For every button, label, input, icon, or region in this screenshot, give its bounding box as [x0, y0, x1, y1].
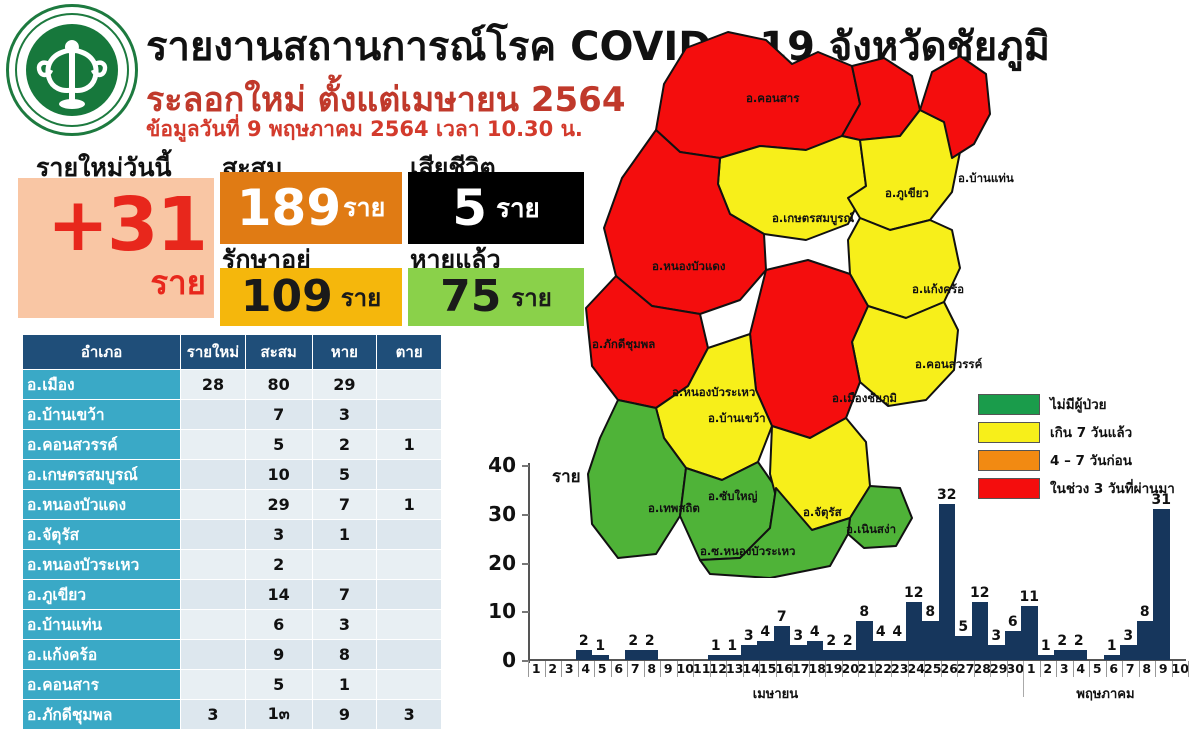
map-label-yellow: อ.แก้งคร้อ: [912, 281, 964, 299]
table-cell-new: [181, 550, 246, 580]
chart-x-tick-label: 14: [743, 661, 760, 676]
legend-item: เกิน 7 วันแล้ว: [978, 421, 1198, 443]
chart-x-tick-label: 4: [578, 661, 595, 676]
chart-x-tick-mark: [776, 661, 777, 677]
table-cell-cum: 6: [245, 610, 312, 640]
table-cell-dead: [377, 580, 442, 610]
chart-x-tick-label: 24: [908, 661, 925, 676]
table-cell-district: อ.เกษตรสมบูรณ์: [23, 460, 181, 490]
table-cell-recovered: 3: [312, 400, 377, 430]
chart-x-tick-mark: [974, 661, 975, 677]
kpi-value-recovered: 75: [440, 275, 501, 319]
chart-x-tick-label: 26: [941, 661, 958, 676]
chart-bar-group: 32: [939, 465, 956, 660]
chart-x-tick-mark: [990, 661, 991, 677]
map-label-red: อ.ภักดีชุมพล: [592, 336, 655, 354]
table-row: อ.ภักดีชุมพล31๓93: [23, 700, 442, 730]
daily-new-cases-bar-chart: ราย 212211347342284412832512361112213831…: [448, 455, 1200, 706]
table-row: อ.จัตุรัส31: [23, 520, 442, 550]
chart-bar-group: [675, 465, 692, 660]
chart-bar-value-label: 4: [892, 624, 902, 640]
chart-x-tick-mark: [842, 661, 843, 677]
table-cell-recovered: 1: [312, 670, 377, 700]
chart-x-tick-label: 19: [825, 661, 842, 676]
chart-x-tick-mark: [644, 661, 645, 677]
table-cell-dead: 1: [377, 490, 442, 520]
chart-x-tick-mark: [1188, 661, 1189, 677]
kpi-unit-new-today: ราย: [150, 256, 206, 309]
chart-bar-value-label: 2: [843, 633, 853, 649]
chart-bar: [724, 655, 741, 660]
table-row: อ.เมือง288029: [23, 370, 442, 400]
chart-bar: [922, 621, 939, 660]
chart-x-tick-label: 9: [1155, 661, 1172, 676]
table-cell-new: [181, 460, 246, 490]
chart-y-tick-mark: [522, 514, 529, 516]
chart-x-tick-label: 13: [726, 661, 743, 676]
table-cell-district: อ.หนองบัวระเหว: [23, 550, 181, 580]
table-cell-dead: [377, 370, 442, 400]
chart-bar: [774, 626, 791, 660]
chart-x-tick-mark: [1106, 661, 1107, 677]
table-cell-new: [181, 640, 246, 670]
kpi-card-treating: 109 ราย: [220, 268, 402, 326]
chart-bar-group: [1087, 465, 1104, 660]
chart-bar-value-label: 31: [1152, 492, 1171, 508]
chart-x-tick-label: 17: [792, 661, 809, 676]
chart-x-tick-label: 3: [561, 661, 578, 676]
map-label-yellow: อ.เกษตรสมบูรณ์: [772, 210, 854, 228]
map-label-red: อ.เมืองชัยภูมิ: [832, 390, 897, 408]
chart-x-tick-label: 25: [924, 661, 941, 676]
chart-x-tick-mark: [957, 661, 958, 677]
table-cell-cum: 3: [245, 520, 312, 550]
chart-bar: [939, 504, 956, 660]
chart-bar-group: 7: [774, 465, 791, 660]
chart-bar-group: 2: [1054, 465, 1071, 660]
chart-bar-group: 1: [592, 465, 609, 660]
chart-x-tick-mark: [908, 661, 909, 677]
chart-bar-value-label: 12: [904, 585, 923, 601]
chart-bar-value-label: 5: [958, 619, 968, 635]
chart-bar-value-label: 3: [744, 628, 754, 644]
chart-x-tick-mark: [578, 661, 579, 677]
chart-x-tick-mark: [792, 661, 793, 677]
chart-y-tick-mark: [522, 465, 529, 467]
chart-bar-group: 2: [1071, 465, 1088, 660]
table-header-recovered: หาย: [312, 335, 377, 370]
chart-y-tick-label: 10: [476, 601, 516, 621]
chart-bar-value-label: 3: [793, 628, 803, 644]
chart-x-tick-label: 21: [858, 661, 875, 676]
chart-bar: [906, 602, 923, 661]
chart-plot-area: 212211347342284412832512361112213831: [526, 465, 1186, 660]
table-cell-district: อ.แก้งคร้อ: [23, 640, 181, 670]
table-cell-new: [181, 610, 246, 640]
table-cell-district: อ.หนองบัวแดง: [23, 490, 181, 520]
table-header-cum: สะสม: [245, 335, 312, 370]
chart-x-tick-mark: [1089, 661, 1090, 677]
chart-x-tick-label: 7: [1122, 661, 1139, 676]
map-label-yellow: อ.บ้านเขว้า: [708, 410, 766, 428]
chart-bar-value-label: 8: [859, 604, 869, 620]
chart-x-tick-label: 2: [1040, 661, 1057, 676]
kpi-value-treating: 109: [241, 275, 333, 319]
chart-x-tick-label: 10: [1172, 661, 1189, 676]
chart-x-tick-mark: [1155, 661, 1156, 677]
chart-bar: [576, 650, 593, 660]
chart-bar: [955, 636, 972, 660]
table-cell-dead: [377, 550, 442, 580]
kpi-unit-recovered: ราย: [511, 278, 551, 317]
chart-bar-group: 4: [807, 465, 824, 660]
table-cell-district: อ.จัตุรัส: [23, 520, 181, 550]
table-cell-district: อ.ภักดีชุมพล: [23, 700, 181, 730]
chart-bar: [790, 645, 807, 660]
table-cell-new: [181, 400, 246, 430]
chart-x-tick-label: 8: [1139, 661, 1156, 676]
chart-bar-value-label: 11: [1020, 589, 1039, 605]
chart-x-tick-mark: [545, 661, 546, 677]
chart-bar-value-label: 1: [595, 638, 605, 654]
chart-bar: [708, 655, 725, 660]
table-cell-district: อ.คอนสวรรค์: [23, 430, 181, 460]
chart-x-tick-mark: [858, 661, 859, 677]
table-cell-dead: [377, 610, 442, 640]
chart-bar: [807, 641, 824, 661]
table-row: อ.ภูเขียว147: [23, 580, 442, 610]
chart-x-tick-mark: [693, 661, 694, 677]
chart-bar-value-label: 2: [579, 633, 589, 649]
table-cell-new: 3: [181, 700, 246, 730]
table-cell-recovered: 8: [312, 640, 377, 670]
chart-bar-group: 2: [823, 465, 840, 660]
chart-x-tick-label: 16: [776, 661, 793, 676]
chart-x-tick-label: 5: [594, 661, 611, 676]
chart-bar-group: [658, 465, 675, 660]
chart-x-tick-mark: [561, 661, 562, 677]
chart-bar-group: 3: [1120, 465, 1137, 660]
chart-x-tick-mark: [1172, 661, 1173, 677]
kpi-card-new-today: +31 ราย: [18, 178, 214, 318]
table-cell-dead: [377, 640, 442, 670]
chart-bar-group: 1: [1038, 465, 1055, 660]
kpi-unit-deaths: ราย: [496, 188, 540, 229]
chart-bar: [741, 645, 758, 660]
district-case-table: อำเภอรายใหม่สะสมหายตาย อ.เมือง288029อ.บ้…: [22, 334, 442, 730]
chart-bar-group: 3: [988, 465, 1005, 660]
chart-bar-value-label: 6: [1008, 614, 1018, 630]
table-cell-new: [181, 670, 246, 700]
table-cell-recovered: 3: [312, 610, 377, 640]
chart-bar-group: 6: [1005, 465, 1022, 660]
table-cell-recovered: 29: [312, 370, 377, 400]
chart-bar-group: 5: [955, 465, 972, 660]
chart-bar: [856, 621, 873, 660]
table-cell-cum: 5: [245, 430, 312, 460]
table-cell-dead: 1: [377, 430, 442, 460]
table-cell-cum: 9: [245, 640, 312, 670]
table-cell-new: 28: [181, 370, 246, 400]
chart-bar: [625, 650, 642, 660]
caduceus-icon: [35, 30, 109, 116]
chart-x-tick-label: 7: [627, 661, 644, 676]
chart-bar-group: [559, 465, 576, 660]
chart-bar-value-label: 2: [826, 633, 836, 649]
table-row: อ.คอนสวรรค์521: [23, 430, 442, 460]
chart-bar-value-label: 4: [810, 624, 820, 640]
chart-bar-value-label: 1: [1107, 638, 1117, 654]
chart-bar-value-label: 1: [711, 638, 721, 654]
chart-x-tick-mark: [627, 661, 628, 677]
table-row: อ.เกษตรสมบูรณ์105: [23, 460, 442, 490]
kpi-card-cumulative: 189 ราย: [220, 172, 402, 244]
chart-bar-value-label: 8: [925, 604, 935, 620]
chart-x-tick-mark: [611, 661, 612, 677]
chart-bar-value-label: 2: [628, 633, 638, 649]
kpi-unit-cumulative: ราย: [343, 188, 385, 228]
map-label-red: อ.หนองบัวแดง: [652, 258, 726, 276]
kpi-value-deaths: 5: [452, 183, 487, 233]
chart-y-tick-label: 40: [476, 455, 516, 475]
legend-label: ไม่มีผู้ป่วย: [1050, 393, 1107, 415]
table-cell-cum: 5: [245, 670, 312, 700]
chart-month-label: เมษายน: [528, 683, 1023, 704]
chart-bar: [972, 602, 989, 661]
chart-bar-group: 12: [906, 465, 923, 660]
table-header-dead: ตาย: [377, 335, 442, 370]
legend-color-swatch: [978, 422, 1040, 443]
chart-bar-group: [1170, 465, 1187, 660]
table-cell-district: อ.บ้านเขว้า: [23, 400, 181, 430]
chart-x-tick-label: 23: [891, 661, 908, 676]
chart-bar: [1038, 655, 1055, 660]
table-cell-district: อ.เมือง: [23, 370, 181, 400]
table-cell-cum: 2: [245, 550, 312, 580]
map-district-mueang-chaiyaphum: [750, 260, 868, 438]
chart-y-tick-label: 30: [476, 504, 516, 524]
chart-bar-value-label: 1: [727, 638, 737, 654]
chart-x-tick-label: 8: [644, 661, 661, 676]
chart-bar-group: 3: [790, 465, 807, 660]
chart-bar: [873, 641, 890, 661]
chart-bar-value-label: 2: [1057, 633, 1067, 649]
chart-bar-group: 31: [1153, 465, 1170, 660]
chart-x-tick-mark: [809, 661, 810, 677]
table-cell-recovered: 7: [312, 490, 377, 520]
kpi-unit-treating: ราย: [341, 278, 381, 317]
chart-x-tick-label: 15: [759, 661, 776, 676]
chart-bar-value-label: 8: [1140, 604, 1150, 620]
table-cell-recovered: [312, 550, 377, 580]
table-header-district: อำเภอ: [23, 335, 181, 370]
chart-bar-group: 3: [741, 465, 758, 660]
map-label-yellow: อ.หนองบัวระเหว: [672, 384, 755, 402]
chart-bar-value-label: 4: [760, 624, 770, 640]
chart-y-tick-label: 20: [476, 553, 516, 573]
chart-x-tick-mark: [875, 661, 876, 677]
kpi-value-cumulative: 189: [237, 183, 341, 233]
chart-bar-value-label: 3: [1123, 628, 1133, 644]
table-row: อ.หนองบัวแดง2971: [23, 490, 442, 520]
chart-x-tick-mark: [1007, 661, 1008, 677]
chart-x-tick-mark: [710, 661, 711, 677]
legend-item: ไม่มีผู้ป่วย: [978, 393, 1198, 415]
chart-bar-value-label: 2: [1074, 633, 1084, 649]
table-cell-district: อ.บ้านแท่น: [23, 610, 181, 640]
table-cell-new: [181, 490, 246, 520]
chart-month-separator: [1023, 661, 1024, 697]
chart-x-tick-label: 5: [1089, 661, 1106, 676]
table-cell-district: อ.ภูเขียว: [23, 580, 181, 610]
chart-x-tick-mark: [743, 661, 744, 677]
table-cell-cum: 14: [245, 580, 312, 610]
chart-x-tick-mark: [825, 661, 826, 677]
chart-bar-group: 12: [972, 465, 989, 660]
table-cell-cum: 7: [245, 400, 312, 430]
chart-x-tick-label: 27: [957, 661, 974, 676]
table-cell-recovered: 1: [312, 520, 377, 550]
table-cell-new: [181, 430, 246, 460]
chart-x-tick-mark: [660, 661, 661, 677]
chart-x-tick-mark: [759, 661, 760, 677]
table-cell-dead: [377, 460, 442, 490]
chart-bar: [1153, 509, 1170, 660]
chart-bar-value-label: 32: [937, 487, 956, 503]
chart-x-tick-label: 4: [1073, 661, 1090, 676]
chart-bar: [1120, 645, 1137, 660]
chart-x-tick-mark: [726, 661, 727, 677]
chart-bar-group: 4: [889, 465, 906, 660]
chart-x-tick-label: 6: [611, 661, 628, 676]
table-header-new: รายใหม่: [181, 335, 246, 370]
chart-bar-value-label: 12: [970, 585, 989, 601]
kpi-value-new-today: +31: [47, 188, 206, 262]
table-cell-cum: 29: [245, 490, 312, 520]
table-cell-dead: [377, 670, 442, 700]
chart-x-tick-mark: [677, 661, 678, 677]
chart-bar: [757, 641, 774, 661]
chart-bar-group: 2: [642, 465, 659, 660]
chart-bar: [988, 645, 1005, 660]
legend-color-swatch: [978, 394, 1040, 415]
table-cell-district: อ.คอนสาร: [23, 670, 181, 700]
chart-bar: [1021, 606, 1038, 660]
chart-x-tick-mark: [1139, 661, 1140, 677]
table-cell-cum: 10: [245, 460, 312, 490]
chart-x-tick-label: 9: [660, 661, 677, 676]
table-cell-dead: [377, 520, 442, 550]
table-row: อ.บ้านแท่น63: [23, 610, 442, 640]
chart-x-tick-mark: [924, 661, 925, 677]
legend-label: เกิน 7 วันแล้ว: [1050, 421, 1132, 443]
chart-bar-group: 4: [757, 465, 774, 660]
chart-x-tick-label: 10: [677, 661, 694, 676]
chart-bar-group: [543, 465, 560, 660]
table-cell-new: [181, 520, 246, 550]
chart-month-label: พฤษภาคม: [1023, 683, 1188, 704]
chart-x-tick-label: 28: [974, 661, 991, 676]
chart-bar-group: 4: [873, 465, 890, 660]
chart-x-tick-label: 29: [990, 661, 1007, 676]
chart-bar-group: 1: [724, 465, 741, 660]
chart-x-tick-label: 18: [809, 661, 826, 676]
table-cell-dead: [377, 400, 442, 430]
table-row: อ.แก้งคร้อ98: [23, 640, 442, 670]
chart-bar-group: 2: [625, 465, 642, 660]
chart-y-tick-mark: [522, 563, 529, 565]
kpi-card-deaths: 5 ราย: [408, 172, 584, 244]
map-label-red: อ.บ้านแท่น: [958, 170, 1014, 188]
chart-bar-value-label: 1: [1041, 638, 1051, 654]
ministry-of-public-health-logo: [6, 4, 138, 136]
table-header-row: อำเภอรายใหม่สะสมหายตาย: [23, 335, 442, 370]
table-row: อ.คอนสาร51: [23, 670, 442, 700]
chart-bar: [1054, 650, 1071, 660]
chart-bar: [823, 650, 840, 660]
table-cell-cum: 80: [245, 370, 312, 400]
chart-bar-value-label: 4: [876, 624, 886, 640]
chart-bar: [1104, 655, 1121, 660]
chart-bar-group: 2: [840, 465, 857, 660]
chart-x-tick-label: 6: [1106, 661, 1123, 676]
chart-bar-group: 8: [856, 465, 873, 660]
chart-y-tick-label: 0: [476, 650, 516, 670]
chart-x-tick-label: 11: [693, 661, 710, 676]
chart-bar-group: [691, 465, 708, 660]
chart-x-tick-mark: [941, 661, 942, 677]
table-cell-dead: 3: [377, 700, 442, 730]
map-label-yellow: อ.ภูเขียว: [885, 185, 929, 203]
chart-bar: [1005, 631, 1022, 660]
chart-y-tick-mark: [522, 611, 529, 613]
chart-x-tick-label: 1: [528, 661, 545, 676]
chart-x-tick-label: 3: [1056, 661, 1073, 676]
map-label-yellow: อ.คอนสวรรค์: [915, 356, 982, 374]
chart-x-tick-label: 22: [875, 661, 892, 676]
chart-x-tick-mark: [1056, 661, 1057, 677]
table-cell-recovered: 5: [312, 460, 377, 490]
chart-x-tick-mark: [1040, 661, 1041, 677]
chart-x-tick-label: 12: [710, 661, 727, 676]
chart-x-tick-label: 20: [842, 661, 859, 676]
table-cell-new: [181, 580, 246, 610]
table-cell-recovered: 7: [312, 580, 377, 610]
chart-bar-group: 11: [1021, 465, 1038, 660]
chart-bar: [889, 641, 906, 661]
chart-x-tick-label: 2: [545, 661, 562, 676]
chart-x-tick-mark: [1073, 661, 1074, 677]
chart-bar-value-label: 3: [991, 628, 1001, 644]
chart-bar-group: [609, 465, 626, 660]
map-label-red: อ.คอนสาร: [746, 90, 799, 108]
chart-x-tick-mark: [528, 661, 529, 677]
table-cell-cum: 1๓: [245, 700, 312, 730]
chart-bar: [1137, 621, 1154, 660]
chart-bar: [1071, 650, 1088, 660]
table-body: อ.เมือง288029อ.บ้านเขว้า73อ.คอนสวรรค์521…: [23, 370, 442, 730]
table-row: อ.หนองบัวระเหว2: [23, 550, 442, 580]
chart-x-tick-mark: [891, 661, 892, 677]
chart-bar-group: 1: [708, 465, 725, 660]
table-row: อ.บ้านเขว้า73: [23, 400, 442, 430]
chart-bar: [840, 650, 857, 660]
chart-bar-value-label: 2: [645, 633, 655, 649]
chart-bar-value-label: 7: [777, 609, 787, 625]
chart-bar-group: 1: [1104, 465, 1121, 660]
chart-bar: [642, 650, 659, 660]
chart-x-tick-label: 1: [1023, 661, 1040, 676]
